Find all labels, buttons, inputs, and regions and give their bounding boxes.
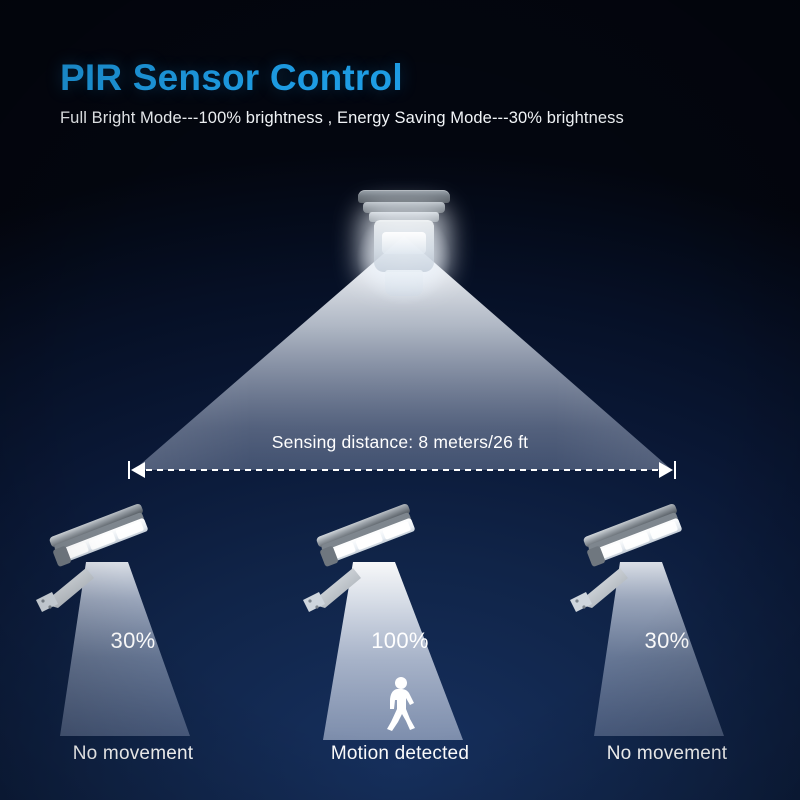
infographic-canvas: PIR Sensor Control Full Bright Mode---10… (0, 0, 800, 800)
sensing-distance-label: Sensing distance: 8 meters/26 ft (0, 432, 800, 453)
mode-panel-left: 30% No movement (0, 500, 266, 800)
lamp-lower-housing (385, 270, 423, 296)
mode-caption-center: Motion detected (267, 743, 533, 765)
mode-caption-right: No movement (534, 743, 800, 765)
brightness-percent-center: 100% (267, 628, 533, 654)
walking-person-icon (377, 676, 423, 732)
main-lamp-fixture (352, 190, 456, 308)
mode-comparison-row: 30% No movement (0, 500, 800, 800)
arrow-head-right-icon (659, 462, 673, 478)
mode-caption-left: No movement (0, 743, 266, 765)
mode-panel-center: 100% Motion detected (267, 500, 533, 800)
sensing-distance-arrow (128, 460, 676, 480)
lamp-led-panel (382, 232, 426, 254)
brightness-percent-right: 30% (534, 628, 800, 654)
arrow-end-cap-left-icon (128, 461, 130, 479)
arrow-dashed-line (146, 469, 658, 471)
brightness-percent-left: 30% (0, 628, 266, 654)
arrow-end-cap-right-icon (674, 461, 676, 479)
arrow-head-left-icon (131, 462, 145, 478)
main-beam-scene: Sensing distance: 8 meters/26 ft (0, 0, 800, 500)
mode-panel-right: 30% No movement (534, 500, 800, 800)
